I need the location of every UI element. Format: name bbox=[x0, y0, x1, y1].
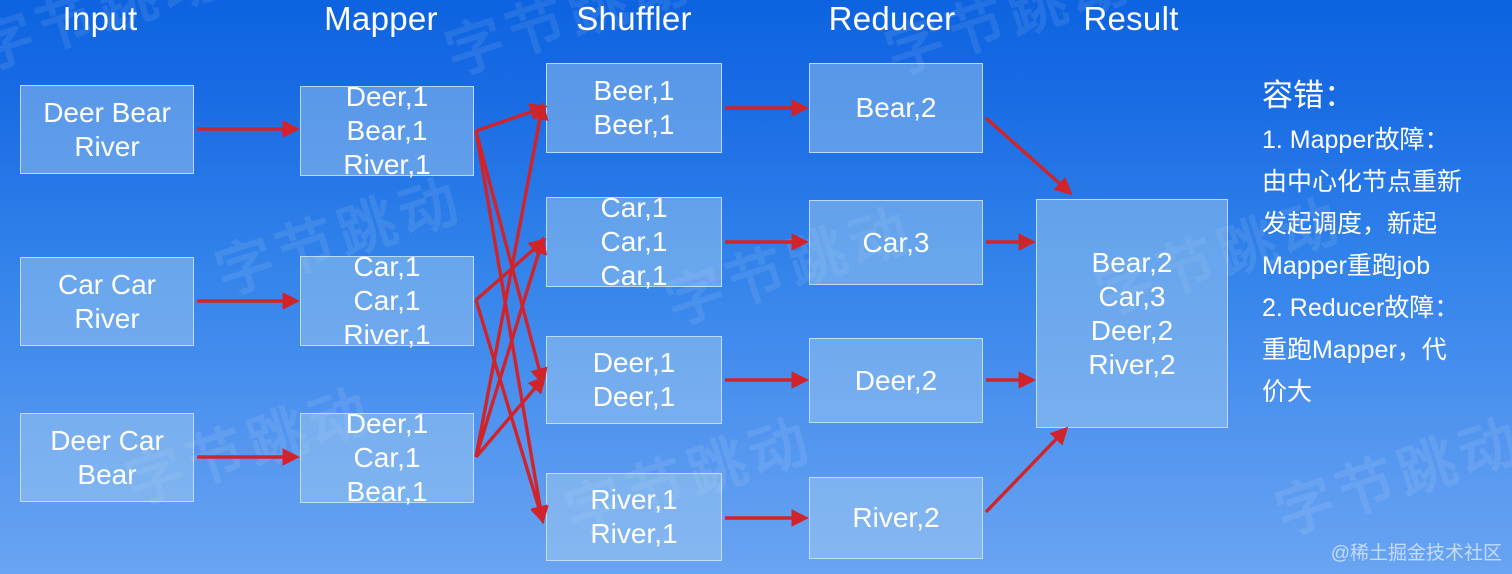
box-line: Deer,2 bbox=[1091, 314, 1174, 348]
corner-watermark: @稀土掘金技术社区 bbox=[1331, 542, 1502, 566]
mapper-box: Deer,1Car,1Bear,1 bbox=[300, 413, 474, 503]
column-header: Reducer bbox=[772, 0, 1012, 38]
box-line: Bear,2 bbox=[1092, 246, 1173, 280]
mapper-box: Car,1Car,1River,1 bbox=[300, 256, 474, 346]
watermark-tile: 字节跳动 bbox=[1263, 392, 1512, 551]
box-line: Deer,1 bbox=[593, 346, 676, 380]
column-header: Shuffler bbox=[514, 0, 754, 38]
arrow-mapper-to-shuffler bbox=[476, 242, 542, 457]
column-header: Result bbox=[1011, 0, 1251, 38]
arrow-reducer-to-result bbox=[986, 431, 1064, 512]
reducer-box: River,2 bbox=[809, 477, 983, 559]
column-header: Mapper bbox=[261, 0, 501, 38]
arrow-mapper-to-shuffler bbox=[476, 131, 542, 380]
box-line: Deer,1 bbox=[593, 380, 676, 414]
box-line: River,1 bbox=[343, 318, 430, 352]
shuffler-box: Car,1Car,1Car,1 bbox=[546, 197, 722, 287]
arrow-mapper-to-shuffler bbox=[476, 242, 542, 300]
box-line: Car,1 bbox=[354, 250, 421, 284]
mapreduce-diagram: 字节跳动字节跳动字节跳动字节跳动字节跳动字节跳动字节跳动字节跳动字节跳动 Inp… bbox=[0, 0, 1512, 574]
arrow-mapper-to-shuffler bbox=[476, 380, 542, 457]
input-box: Deer BearRiver bbox=[20, 85, 194, 174]
notes-line: 1. Mapper故障： bbox=[1262, 119, 1512, 161]
notes-line: 重跑Mapper，代 bbox=[1262, 329, 1512, 371]
box-line: River bbox=[74, 302, 139, 336]
arrow-mapper-to-shuffler bbox=[476, 131, 542, 518]
box-line: River,2 bbox=[852, 501, 939, 535]
box-line: Car,1 bbox=[354, 284, 421, 318]
notes-line: 发起调度，新起 bbox=[1262, 203, 1512, 245]
box-line: Car,1 bbox=[354, 441, 421, 475]
fault-tolerance-notes: 容错： 1. Mapper故障：由中心化节点重新发起调度，新起Mapper重跑j… bbox=[1262, 72, 1512, 413]
box-line: Beer,1 bbox=[594, 74, 675, 108]
box-line: Deer,1 bbox=[346, 80, 429, 114]
box-line: Deer,1 bbox=[346, 407, 429, 441]
input-box: Car CarRiver bbox=[20, 257, 194, 346]
input-box: Deer CarBear bbox=[20, 413, 194, 502]
box-line: Deer Bear bbox=[43, 96, 171, 130]
box-line: Bear,1 bbox=[347, 114, 428, 148]
notes-body: 1. Mapper故障：由中心化节点重新发起调度，新起Mapper重跑job2.… bbox=[1262, 119, 1512, 413]
arrow-mapper-to-shuffler bbox=[476, 108, 542, 457]
shuffler-box: River,1River,1 bbox=[546, 473, 722, 561]
reducer-box: Deer,2 bbox=[809, 338, 983, 423]
shuffler-box: Beer,1Beer,1 bbox=[546, 63, 722, 153]
box-line: River,1 bbox=[590, 483, 677, 517]
result-box: Bear,2Car,3Deer,2River,2 bbox=[1036, 199, 1228, 428]
arrow-mapper-to-shuffler bbox=[476, 108, 542, 131]
box-line: Car,3 bbox=[863, 226, 930, 260]
notes-heading: 容错： bbox=[1262, 72, 1512, 119]
box-line: Car Car bbox=[58, 268, 156, 302]
notes-line: 2. Reducer故障： bbox=[1262, 287, 1512, 329]
box-line: River bbox=[74, 130, 139, 164]
box-line: Bear,1 bbox=[347, 475, 428, 509]
box-line: Bear,2 bbox=[856, 91, 937, 125]
arrow-reducer-to-result bbox=[986, 118, 1068, 191]
box-line: Car,1 bbox=[601, 259, 668, 293]
column-header: Input bbox=[0, 0, 220, 38]
box-line: Beer,1 bbox=[594, 108, 675, 142]
reducer-box: Bear,2 bbox=[809, 63, 983, 153]
arrow-mapper-to-shuffler bbox=[476, 300, 542, 518]
box-line: Car,3 bbox=[1099, 280, 1166, 314]
box-line: River,1 bbox=[343, 148, 430, 182]
reducer-box: Car,3 bbox=[809, 200, 983, 285]
box-line: Car,1 bbox=[601, 225, 668, 259]
box-line: River,1 bbox=[590, 517, 677, 551]
box-line: Deer,2 bbox=[855, 364, 938, 398]
notes-line: Mapper重跑job bbox=[1262, 245, 1512, 287]
box-line: Car,1 bbox=[601, 191, 668, 225]
notes-line: 价大 bbox=[1262, 371, 1512, 413]
notes-line: 由中心化节点重新 bbox=[1262, 161, 1512, 203]
shuffler-box: Deer,1Deer,1 bbox=[546, 336, 722, 424]
box-line: Bear bbox=[77, 458, 136, 492]
box-line: River,2 bbox=[1088, 348, 1175, 382]
box-line: Deer Car bbox=[50, 424, 164, 458]
mapper-box: Deer,1Bear,1River,1 bbox=[300, 86, 474, 176]
